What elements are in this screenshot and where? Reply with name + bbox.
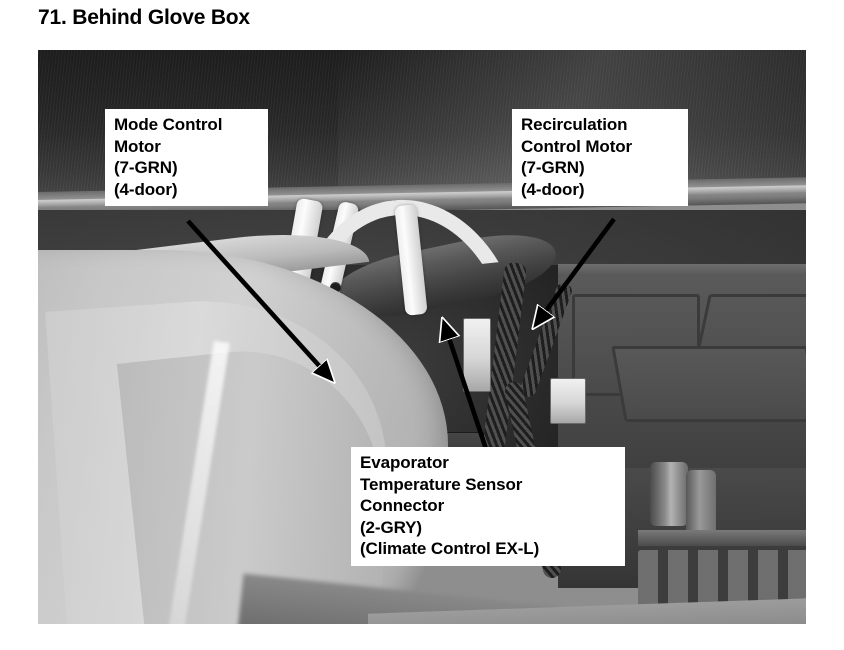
hvac-panel-rib-lower [611, 346, 806, 422]
callout-evap-line-2: Temperature Sensor [360, 474, 617, 496]
callout-evap-line-4: (2-GRY) [360, 517, 617, 539]
callout-recirculation-control-motor: Recirculation Control Motor (7-GRN) (4-d… [512, 109, 688, 206]
callout-mode-line-1: Mode Control [114, 114, 260, 136]
hvac-vent-cap [638, 530, 806, 546]
callout-recirc-line-2: Control Motor [521, 136, 680, 158]
callout-mode-line-3: (7-GRN) [114, 157, 260, 179]
callout-mode-control-motor: Mode Control Motor (7-GRN) (4-door) [105, 109, 268, 206]
recirculation-control-motor-connector [550, 378, 586, 424]
callout-mode-line-2: Motor [114, 136, 260, 158]
callout-recirc-line-3: (7-GRN) [521, 157, 680, 179]
callout-evaporator-temperature-sensor-connector: Evaporator Temperature Sensor Connector … [351, 447, 625, 566]
page-title: 71. Behind Glove Box [38, 6, 250, 30]
hvac-cylinder-fitting [650, 462, 688, 526]
evaporator-temperature-sensor-connector [463, 318, 491, 392]
callout-recirc-line-1: Recirculation [521, 114, 680, 136]
callout-recirc-line-4: (4-door) [521, 179, 680, 201]
callout-evap-line-5: (Climate Control EX-L) [360, 538, 617, 560]
callout-evap-line-3: Connector [360, 495, 617, 517]
service-manual-page: 71. Behind Glove Box [0, 0, 844, 650]
callout-mode-line-4: (4-door) [114, 179, 260, 201]
callout-evap-line-1: Evaporator [360, 452, 617, 474]
